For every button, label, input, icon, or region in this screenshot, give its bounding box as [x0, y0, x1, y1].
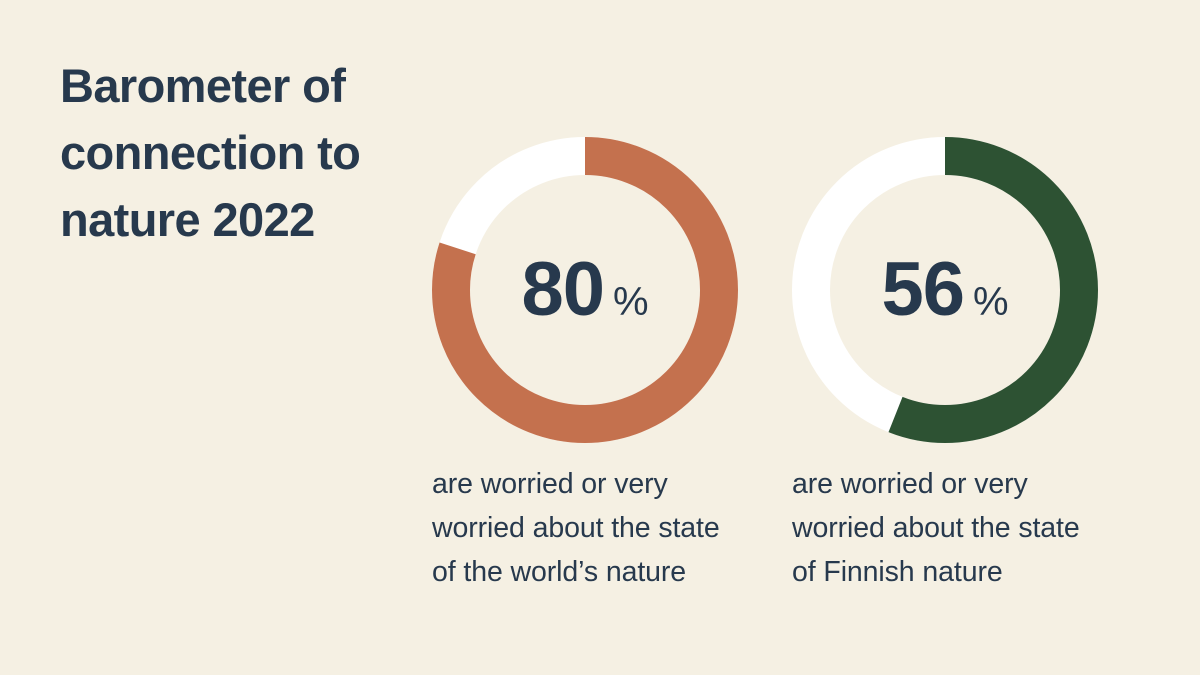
title-line-3: nature 2022: [60, 186, 440, 253]
stat-group-world-nature: 80 % are worried or very worried about t…: [432, 137, 738, 443]
donut-center-label-world-nature: 80 %: [432, 137, 738, 443]
donut-center-label-finnish-nature: 56 %: [792, 137, 1098, 443]
infographic-canvas: Barometer of connection to nature 2022 8…: [0, 0, 1200, 675]
stat-group-finnish-nature: 56 % are worried or very worried about t…: [792, 137, 1098, 443]
donut-chart-finnish-nature: 56 %: [792, 137, 1098, 443]
page-title: Barometer of connection to nature 2022: [60, 52, 440, 253]
percent-symbol-finnish-nature: %: [973, 282, 1009, 322]
title-line-2: connection to: [60, 119, 440, 186]
stat-caption-finnish-nature: are worried or very worried about the st…: [792, 462, 1092, 594]
donut-chart-world-nature: 80 %: [432, 137, 738, 443]
stat-value-finnish-nature: 56: [881, 252, 964, 328]
title-line-1: Barometer of: [60, 52, 440, 119]
stat-caption-world-nature: are worried or very worried about the st…: [432, 462, 742, 594]
percent-symbol-world-nature: %: [613, 282, 649, 322]
stat-value-world-nature: 80: [521, 252, 604, 328]
